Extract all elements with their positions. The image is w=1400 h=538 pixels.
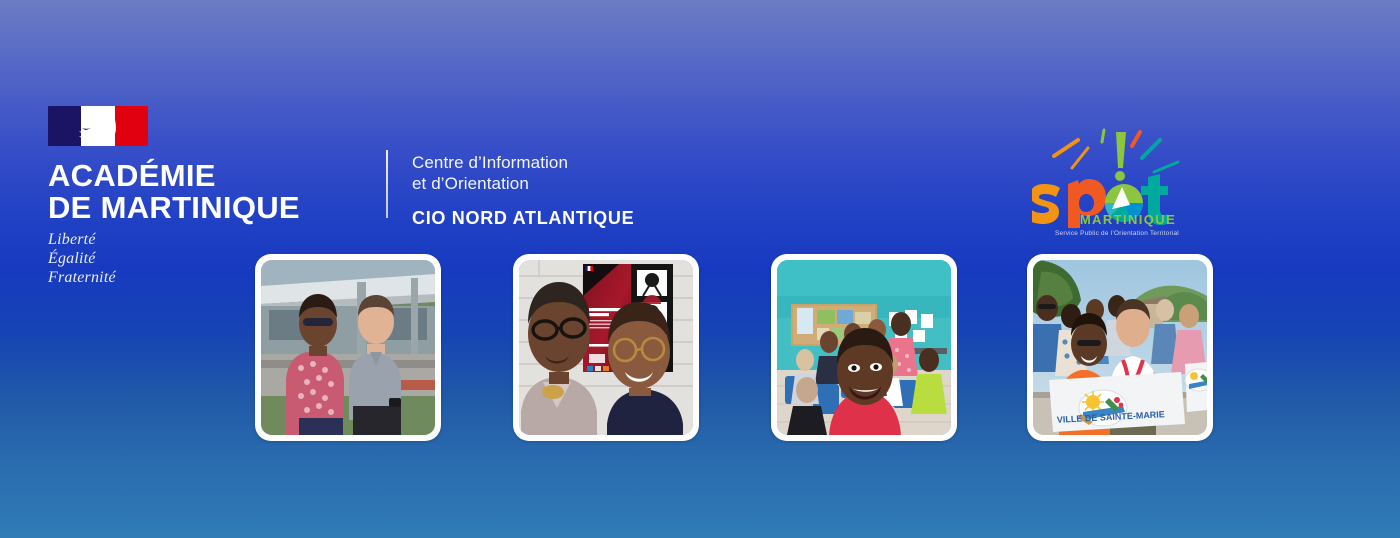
vertical-divider xyxy=(386,150,388,218)
photo-two-women-with-poster[interactable] xyxy=(513,254,699,441)
photo-3-artwork xyxy=(777,260,951,435)
spot-logo-graphic: MARTINIQUE Service Public de l’Orientati… xyxy=(1032,128,1202,238)
cio-name: CIO NORD ATLANTIQUE xyxy=(412,208,634,229)
photo-4-artwork: VILLE DE SAINTE-MARIE xyxy=(1033,260,1207,435)
spot-martinique-logo: MARTINIQUE Service Public de l’Orientati… xyxy=(1032,128,1202,238)
photo-1-artwork xyxy=(261,260,435,435)
spot-region-label: MARTINIQUE xyxy=(1080,212,1176,227)
sainte-marie-banner: VILLE DE SAINTE-MARIE xyxy=(1049,372,1185,432)
marianne-profile-icon xyxy=(48,106,148,146)
cio-identity-block: Centre d’Information et d’Orientation CI… xyxy=(412,152,634,229)
cio-subtitle: Centre d’Information et d’Orientation xyxy=(412,152,634,195)
spot-tagline: Service Public de l’Orientation Territor… xyxy=(1055,230,1179,237)
motto-liberte: Liberté xyxy=(48,231,378,250)
banner-right-partial xyxy=(1185,362,1207,412)
cio-subtitle-line1: Centre d’Information xyxy=(412,152,634,173)
banner-header: ACADÉMIE DE MARTINIQUE Liberté Égalité F… xyxy=(0,0,1400,538)
photo-crowd-with-banner[interactable]: VILLE DE SAINTE-MARIE xyxy=(1027,254,1213,441)
spot-rays-icon xyxy=(1054,130,1178,172)
academie-title-line2: DE MARTINIQUE xyxy=(48,192,378,224)
cio-subtitle-line2: et d’Orientation xyxy=(412,173,634,194)
photo-2-artwork xyxy=(519,260,693,435)
academie-title: ACADÉMIE DE MARTINIQUE xyxy=(48,160,378,223)
academie-title-line1: ACADÉMIE xyxy=(48,158,216,193)
spot-exclamation-icon xyxy=(1115,132,1126,181)
photo-two-people-outside-building[interactable] xyxy=(255,254,441,441)
photo-strip: VILLE DE SAINTE-MARIE xyxy=(0,254,1400,444)
photo-group-classroom-selfie[interactable] xyxy=(771,254,957,441)
marianne-french-republic-logo xyxy=(48,106,148,146)
